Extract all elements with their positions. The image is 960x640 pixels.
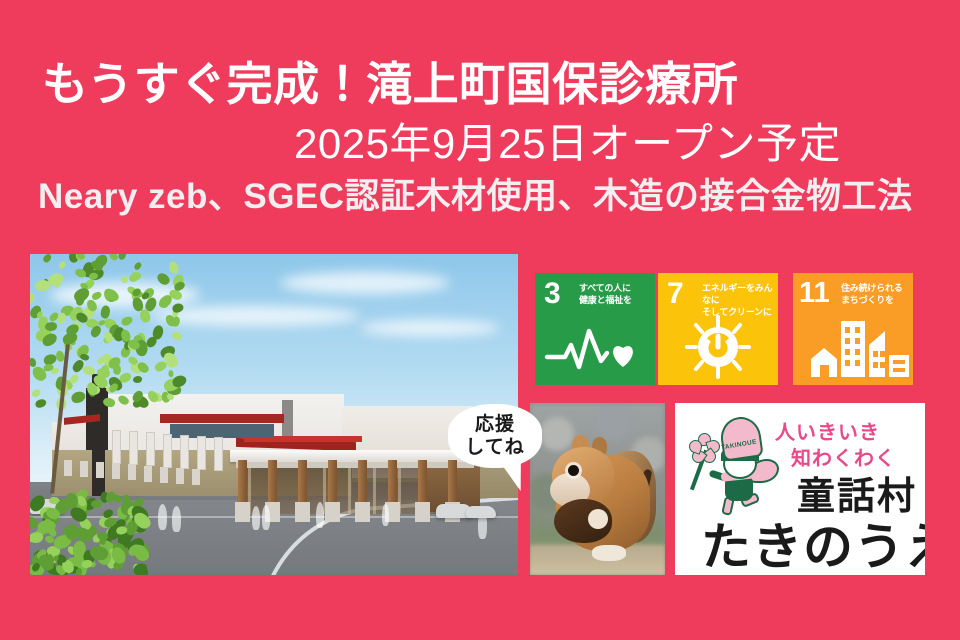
logo-tagline-line-1: 人いきいき	[775, 416, 880, 445]
foreground-bush	[30, 490, 144, 575]
mascot-fairy: TAKINOUE	[691, 415, 787, 511]
chipmunk-foot	[592, 545, 626, 561]
mullion	[348, 466, 351, 514]
poster-canvas: もうすぐ完成！滝上町国保診療所 2025年9月25日オープン予定 Neary z…	[0, 0, 960, 640]
leaf	[117, 254, 128, 261]
leaf	[156, 271, 172, 287]
column-base	[235, 502, 250, 522]
window-small	[144, 466, 152, 482]
window	[214, 437, 223, 471]
chipmunk-paw	[588, 509, 608, 529]
window	[180, 435, 189, 469]
headline-line-1: もうすぐ完成！滝上町国保診療所	[42, 60, 738, 108]
column-base	[325, 502, 340, 522]
leaf	[30, 291, 37, 306]
leaf	[133, 376, 143, 384]
headline-line-2: 2025年9月25日オープン予定	[294, 122, 841, 166]
chipmunk-eye	[568, 465, 579, 476]
window	[146, 432, 155, 466]
leaf	[34, 398, 47, 408]
logo-inner: TAKINOUE 人いきいき 知わくわく 童話村 たきのうえ	[679, 407, 921, 571]
window-small	[176, 468, 184, 484]
window-small	[80, 461, 88, 477]
leaf	[121, 276, 127, 284]
foreground-tree	[30, 254, 214, 410]
sdg-badge-7[interactable]: 7 エネルギーをみんなに そしてクリーンに	[658, 273, 778, 385]
person-silhouette	[382, 504, 389, 526]
person-silhouette	[262, 505, 270, 530]
window-small	[64, 460, 72, 476]
leaf	[172, 303, 184, 313]
cloud	[280, 272, 450, 294]
leaf	[45, 321, 57, 331]
window-small	[112, 463, 120, 479]
window	[197, 436, 206, 470]
leaf	[91, 290, 103, 300]
leaf	[154, 361, 168, 373]
speech-bubble-line-1: 応援	[475, 413, 515, 436]
person-silhouette	[158, 504, 167, 530]
leaf	[171, 374, 187, 387]
leaf	[167, 370, 173, 378]
sdg-caption: エネルギーをみんなに そしてクリーンに	[702, 282, 776, 318]
sdg-badge-11[interactable]: 11 住み続けられる まちづくりを	[793, 273, 913, 385]
sdg-caption: 住み続けられる まちづくりを	[841, 282, 911, 306]
sdg-caption-line-2: 健康と福祉を	[579, 294, 653, 306]
window-small	[192, 469, 200, 485]
window	[163, 434, 172, 468]
leaf	[82, 560, 93, 568]
person-silhouette	[172, 506, 181, 532]
leaf	[31, 389, 42, 398]
sdg-caption-line-2: まちづくりを	[841, 294, 911, 306]
leaf	[82, 364, 96, 377]
column-base	[355, 502, 370, 522]
cherry-blossom-icon	[689, 433, 719, 463]
mullion	[373, 466, 376, 514]
window-small	[160, 467, 168, 483]
sdg-caption-line-1: エネルギーをみんなに	[702, 282, 776, 306]
sdg-number: 11	[799, 279, 830, 308]
clinic-exterior-rendering	[30, 254, 518, 575]
leaf	[89, 273, 98, 280]
city-buildings-icon	[793, 315, 913, 379]
heartbeat-heart-icon	[535, 315, 655, 379]
sdg-badge-3[interactable]: 3 すべての人に 健康と福祉を	[535, 273, 655, 385]
red-roof-trim	[160, 414, 284, 423]
sun-power-icon	[658, 315, 778, 379]
leaf	[101, 396, 116, 410]
window-small	[96, 462, 104, 478]
chipmunk-photo	[530, 403, 665, 575]
leaf	[57, 260, 67, 270]
town-logo[interactable]: TAKINOUE 人いきいき 知わくわく 童話村 たきのうえ	[675, 403, 925, 575]
speech-bubble: 応援 してね	[448, 404, 542, 468]
car	[466, 506, 496, 518]
column-base	[295, 502, 310, 522]
leaf	[30, 358, 36, 367]
leaf	[71, 391, 87, 404]
sdg-caption-line-1: すべての人に	[579, 282, 653, 294]
sdg-caption: すべての人に 健康と福祉を	[579, 282, 653, 306]
leaf	[42, 254, 53, 264]
headline-line-3: Neary zeb、SGEC認証木材使用、木造の接合金物工法	[38, 179, 913, 216]
speech-bubble-line-2: してね	[465, 436, 524, 459]
sdg-number: 3	[544, 279, 561, 309]
window	[112, 430, 121, 464]
leaf	[169, 261, 179, 273]
leaf	[117, 394, 130, 407]
sdg-caption-line-1: 住み続けられる	[841, 282, 911, 294]
logo-name-kana: たきのうえ	[701, 507, 925, 575]
window-small	[128, 464, 136, 480]
window	[129, 431, 138, 465]
leaf	[170, 330, 183, 342]
person-silhouette	[252, 506, 260, 530]
leaf	[99, 304, 112, 319]
leaf	[43, 363, 53, 371]
leaf	[132, 297, 144, 312]
column-base	[415, 502, 430, 522]
sdg-number: 7	[667, 279, 684, 309]
leaf	[30, 532, 43, 544]
person-silhouette	[316, 502, 324, 528]
cloud	[360, 320, 500, 336]
leaf	[34, 279, 50, 292]
leaf	[133, 261, 143, 271]
